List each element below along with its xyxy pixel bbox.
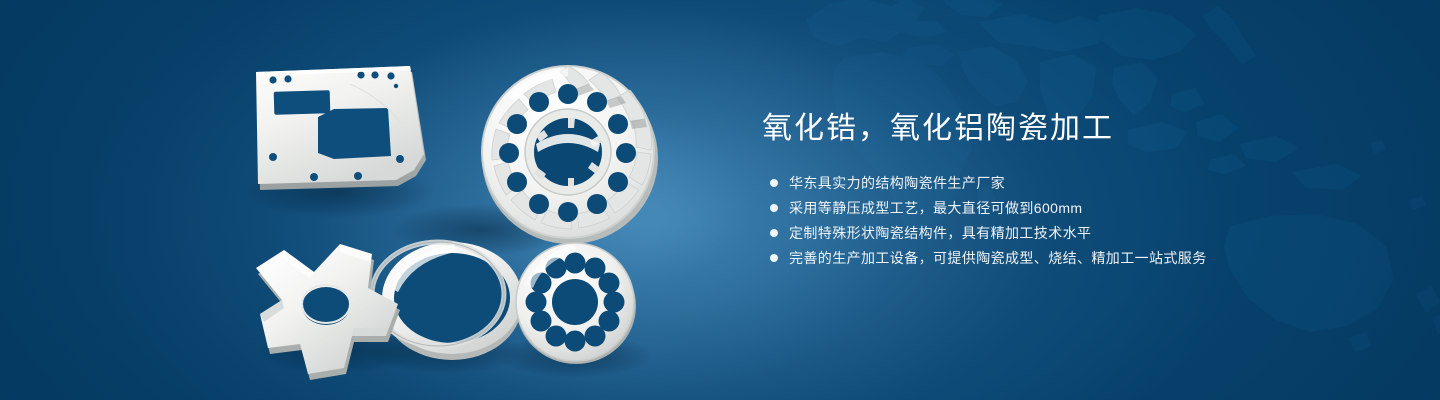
hero-banner: 氧化锆，氧化铝陶瓷加工 华东具实力的结构陶瓷件生产厂家 采用等静压成型工艺，最大…	[0, 0, 1440, 400]
ceramic-perforated-disc	[516, 243, 636, 364]
ceramic-machined-plate	[256, 66, 426, 190]
banner-feature-list: 华东具实力的结构陶瓷件生产厂家 采用等静压成型工艺，最大直径可做到600mm 定…	[762, 171, 1382, 270]
feature-item-label: 定制特殊形状陶瓷结构件，具有精加工技术水平	[789, 221, 1091, 245]
ceramic-impeller-disc	[482, 66, 658, 244]
banner-copy: 氧化锆，氧化铝陶瓷加工 华东具实力的结构陶瓷件生产厂家 采用等静压成型工艺，最大…	[762, 108, 1382, 271]
feature-item: 采用等静压成型工艺，最大直径可做到600mm	[762, 196, 1382, 220]
bullet-dot-icon	[770, 229, 778, 237]
bullet-dot-icon	[770, 179, 778, 187]
banner-headline: 氧化锆，氧化铝陶瓷加工	[762, 108, 1382, 150]
feature-item-label: 采用等静压成型工艺，最大直径可做到600mm	[789, 196, 1082, 220]
feature-item: 完善的生产加工设备，可提供陶瓷成型、烧结、精加工一站式服务	[762, 246, 1382, 270]
feature-item-label: 华东具实力的结构陶瓷件生产厂家	[789, 171, 1005, 195]
feature-item: 华东具实力的结构陶瓷件生产厂家	[762, 171, 1382, 195]
bullet-dot-icon	[770, 204, 778, 212]
bullet-dot-icon	[770, 254, 778, 262]
feature-item: 定制特殊形状陶瓷结构件，具有精加工技术水平	[762, 221, 1382, 245]
feature-item-label: 完善的生产加工设备，可提供陶瓷成型、烧结、精加工一站式服务	[789, 246, 1207, 270]
product-photo-cluster	[230, 40, 710, 380]
